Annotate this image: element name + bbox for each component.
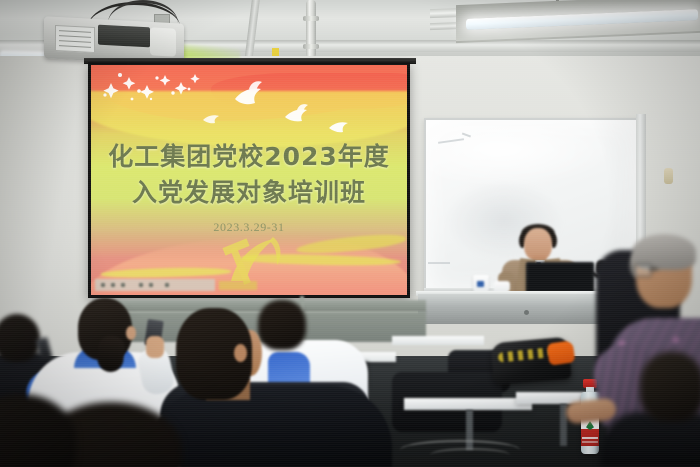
projector-label-panel	[55, 25, 95, 53]
pipe-collar	[303, 16, 319, 21]
dove-icon-4	[201, 109, 223, 127]
student-hoodie-body	[146, 386, 392, 467]
slide-date: 2023.3.29-31	[91, 220, 407, 235]
wall-hook	[664, 168, 673, 184]
attendee-far-right-head	[640, 352, 700, 422]
student-white-jacket-right-head	[258, 300, 306, 350]
student-hoodie-ear	[234, 344, 247, 362]
mug-logo	[477, 281, 484, 287]
dove-icon	[231, 79, 267, 109]
whiteboard-glare	[430, 126, 610, 186]
powerpoint-taskbar-right	[219, 281, 257, 290]
powerpoint-taskbar	[95, 279, 215, 291]
white-desk-back	[392, 336, 484, 345]
presentation-slide: 化工集团党校2023年度 入党发展对象培训班 2023.3.29-31	[91, 65, 407, 295]
classroom-photo-scene: 化工集团党校2023年度 入党发展对象培训班 2023.3.29-31	[0, 0, 700, 467]
student-ponytail-ear	[126, 326, 136, 340]
bottle-label-text-line2	[582, 441, 598, 443]
podium-knob	[524, 310, 529, 315]
attendee-far-left-head	[0, 314, 40, 362]
whiteboard-mark-3	[428, 262, 450, 264]
projector-lens	[150, 27, 176, 56]
slide-title-line1: 化工集团党校2023年度	[91, 137, 407, 173]
slide-title-line2: 入党发展对象培训班	[91, 173, 407, 209]
floor-cable-2	[430, 448, 510, 462]
attendee-glasses-arm	[650, 268, 658, 270]
bag-orange-item	[547, 340, 576, 365]
left-wall	[0, 56, 92, 356]
student-hand	[146, 336, 164, 358]
ceiling-pipe	[306, 0, 316, 58]
bottle-label-text-line1	[582, 437, 598, 439]
white-desk-front-left	[404, 398, 532, 410]
projector-port-panel	[98, 25, 150, 48]
pipe-collar-2	[303, 44, 319, 49]
dove-icon-2	[283, 101, 313, 125]
dove-icon-3	[327, 115, 353, 135]
attendee-glasses	[634, 264, 652, 277]
sparkle-cluster-icon	[95, 69, 215, 109]
